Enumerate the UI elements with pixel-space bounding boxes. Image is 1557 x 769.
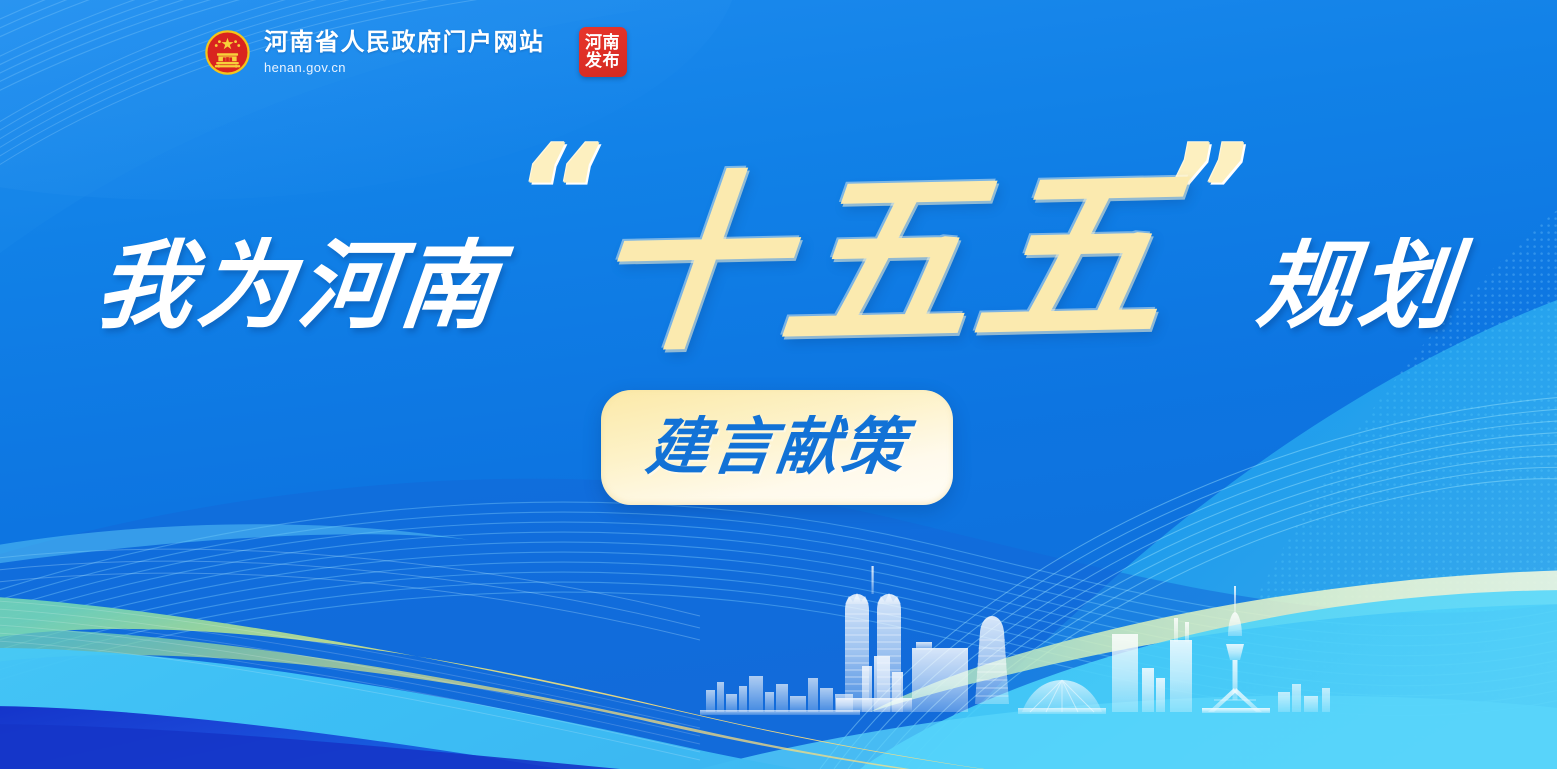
campaign-banner: 河南省人民政府门户网站 henan.gov.cn 河南 发布 我为河南 “ 十五… bbox=[0, 0, 1557, 769]
badge-line-1: 河南 bbox=[585, 34, 620, 52]
headline-right-text: 规划 bbox=[1253, 239, 1465, 335]
badge-line-2: 发布 bbox=[585, 52, 620, 70]
quote-open-mark: “ bbox=[515, 140, 599, 244]
site-domain[interactable]: henan.gov.cn bbox=[264, 61, 545, 74]
site-header[interactable]: 河南省人民政府门户网站 henan.gov.cn 河南 发布 bbox=[205, 27, 627, 77]
henan-release-badge[interactable]: 河南 发布 bbox=[579, 27, 627, 77]
submit-suggestion-button[interactable]: 建言献策 bbox=[601, 390, 953, 505]
headline: 我为河南 “ 十五五 ” 规划 bbox=[0, 118, 1557, 398]
site-title[interactable]: 河南省人民政府门户网站 bbox=[264, 31, 545, 55]
wave-hairlines bbox=[0, 502, 1557, 716]
header-text-group: 河南省人民政府门户网站 henan.gov.cn bbox=[264, 31, 545, 74]
national-emblem-icon bbox=[205, 30, 250, 75]
submit-suggestion-label: 建言献策 bbox=[643, 417, 911, 479]
headline-calligraphy-text: 十五五 bbox=[583, 168, 1178, 355]
headline-left-text: 我为河南 bbox=[92, 239, 506, 335]
